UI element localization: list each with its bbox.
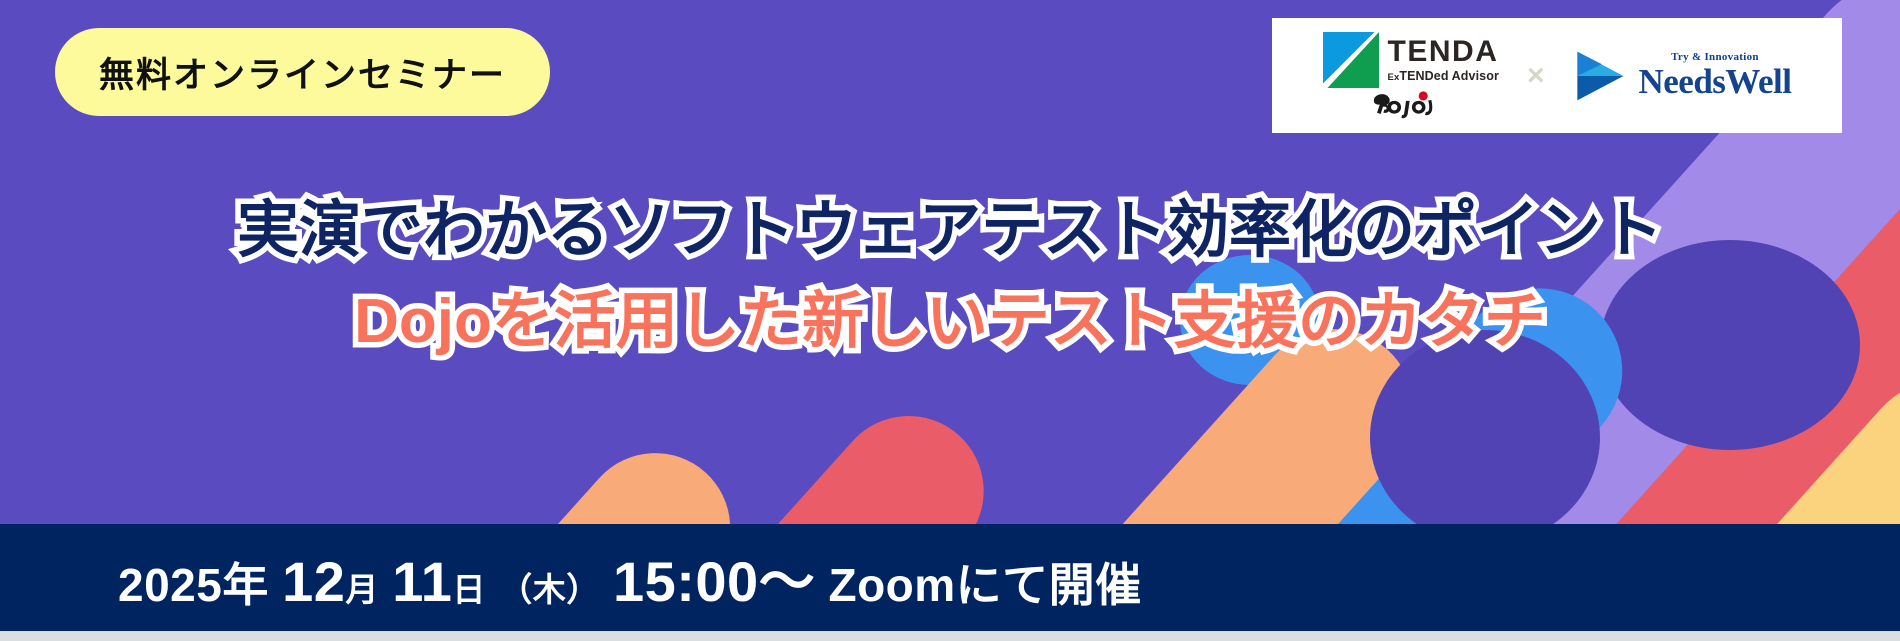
needswell-name: NeedsWell (1638, 64, 1791, 99)
date-day-unit: 日 (452, 571, 486, 608)
date-month-unit: 月 (345, 571, 379, 608)
date-month: 12 (282, 550, 345, 613)
tenda-tagline: ExTENDed Advisor (1388, 70, 1499, 83)
date-bar: 2025年 12月 11日 （木） 15:00〜 Zoomにて開催 (0, 524, 1900, 631)
tenda-tagline-text: TENDed Advisor (1399, 69, 1499, 83)
date-text: 2025年 12月 11日 （木） 15:00〜 Zoomにて開催 (118, 537, 1142, 618)
date-year: 2025年 (118, 559, 269, 611)
date-time: 15:00〜 (613, 550, 815, 613)
seminar-banner: 無料オンラインセミナー TENDA ExTENDed Advisor (0, 0, 1900, 641)
needswell-wordmark: Try & Innovation NeedsWell (1638, 52, 1791, 99)
tenda-logo: TENDA ExTENDed Advisor (1323, 32, 1499, 88)
headline-group: 実演でわかるソフトウェアテスト効率化のポイント Dojoを活用した新しいテスト支… (0, 196, 1900, 357)
decor-blob-purple (1370, 330, 1600, 545)
date-weekday: （木） (499, 571, 600, 608)
cross-separator-icon: × (1525, 61, 1547, 91)
badge-label: 無料オンラインセミナー (99, 47, 506, 98)
footer-strip (0, 631, 1900, 641)
tenda-tagline-prefix: Ex (1388, 72, 1400, 83)
headline-line-2: Dojoを活用した新しいテスト支援のカタチ (0, 287, 1900, 356)
tenda-mark-icon (1323, 32, 1379, 88)
tenda-dojo-logo-group: TENDA ExTENDed Advisor (1323, 32, 1499, 120)
dojo-logo-icon (1368, 90, 1454, 120)
needswell-logo: Try & Innovation NeedsWell (1572, 49, 1791, 103)
headline-line-1: 実演でわかるソフトウェアテスト効率化のポイント (0, 196, 1900, 265)
logo-block: TENDA ExTENDed Advisor × (1272, 18, 1842, 133)
free-seminar-badge: 無料オンラインセミナー (55, 28, 550, 116)
tenda-wordmark: TENDA ExTENDed Advisor (1388, 37, 1499, 83)
needswell-triangle-icon (1572, 49, 1626, 103)
date-day: 11 (392, 550, 452, 613)
date-platform: Zoomにて開催 (828, 559, 1141, 611)
tenda-name: TENDA (1388, 37, 1499, 67)
